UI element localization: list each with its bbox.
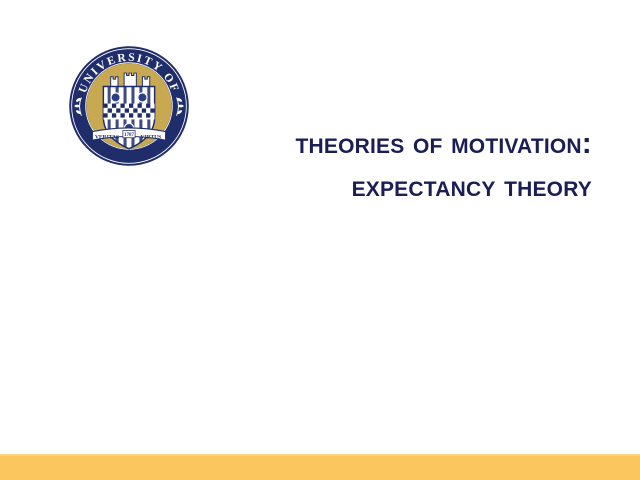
slide-title-line-2: Expectancy Theory: [210, 167, 592, 207]
slide-title-line-1: Theories of Motivation:: [210, 124, 592, 164]
bottom-accent-bar: [0, 456, 640, 480]
seal-ribbon-left-text: VERITAS: [95, 134, 119, 140]
seal-ribbon-right-text: VIRTUS: [141, 134, 162, 140]
university-of-pittsburgh-seal: UNIVERSITY OF PITTSBURGH: [68, 45, 190, 167]
slide-title-block: Theories of Motivation: Expectancy Theor…: [210, 124, 592, 207]
seal-ribbon-center-text: 1787: [124, 133, 134, 138]
seal-shield-checker: [103, 104, 154, 120]
presentation-slide: UNIVERSITY OF PITTSBURGH: [0, 0, 640, 480]
